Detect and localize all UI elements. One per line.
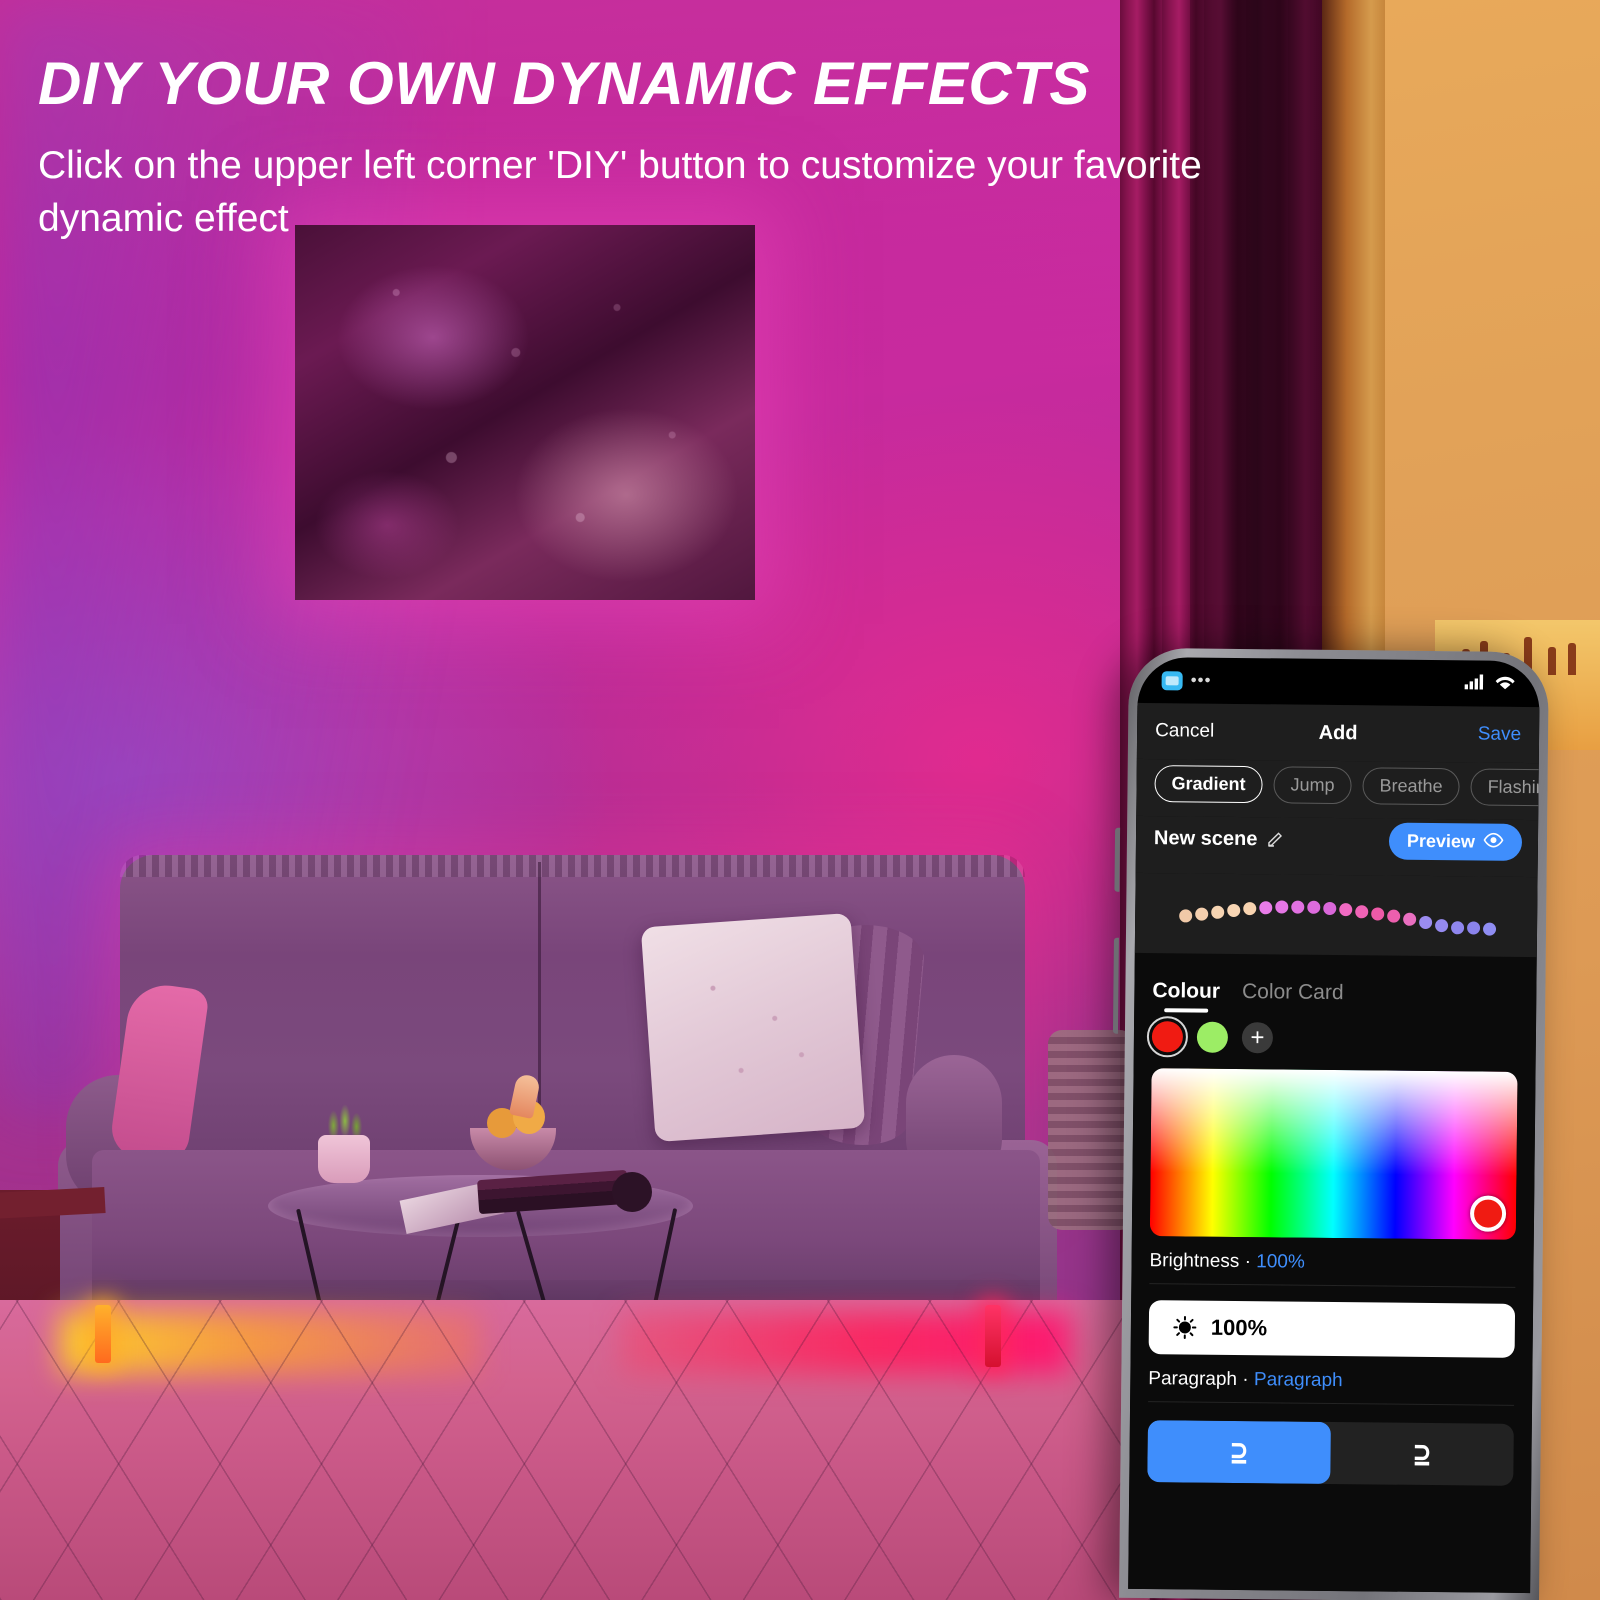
gradient-preview-strip[interactable] [1135, 873, 1538, 957]
gradient-dot[interactable] [1211, 906, 1224, 919]
paragraph-label: Paragraph [1148, 1368, 1237, 1390]
page-title: DIY YOUR OWN DYNAMIC EFFECTS [38, 52, 1158, 115]
gradient-dot[interactable] [1275, 901, 1288, 914]
gradient-dot[interactable] [1323, 902, 1336, 915]
gradient-dot[interactable] [1467, 922, 1480, 935]
phone-mockup: ••• [1119, 648, 1549, 1600]
overflow-dots-icon: ••• [1191, 677, 1212, 683]
gradient-dot[interactable] [1403, 913, 1416, 926]
gradient-dot[interactable] [1419, 916, 1432, 929]
wall-artwork [295, 225, 755, 600]
cancel-button[interactable]: Cancel [1155, 720, 1214, 743]
preview-button[interactable]: Preview [1389, 823, 1522, 861]
brightness-label: Brightness [1149, 1250, 1239, 1272]
gradient-dot[interactable] [1339, 903, 1352, 916]
gradient-dot[interactable] [1371, 907, 1384, 920]
signal-bars-icon [1465, 673, 1487, 694]
segment-glyph-2: ⊇ [1413, 1436, 1430, 1472]
gradient-dot[interactable] [1451, 921, 1464, 934]
power-button[interactable] [1113, 938, 1119, 1034]
brightness-label-row: Brightness · 100% [1131, 1236, 1533, 1288]
divider [1149, 1283, 1515, 1288]
eye-icon [1483, 832, 1504, 853]
status-bar-right [1465, 673, 1516, 695]
color-swatch-red[interactable] [1152, 1021, 1183, 1052]
sofa-leg-lit-red [985, 1305, 1001, 1367]
plant-pot [318, 1135, 370, 1183]
gradient-dot[interactable] [1227, 904, 1240, 917]
gradient-dot[interactable] [1291, 901, 1304, 914]
segment-mode-2[interactable]: ⊇ [1330, 1422, 1514, 1486]
cloud-app-icon [1162, 671, 1183, 690]
gradient-dot[interactable] [1387, 910, 1400, 923]
paragraph-value: Paragraph [1254, 1369, 1343, 1391]
led-app: Cancel Add Save Gradient Jump Breathe Fl… [1128, 703, 1539, 1593]
segment-toggle-row: ⊇ ⊇ [1147, 1420, 1514, 1486]
gradient-dot[interactable] [1435, 919, 1448, 932]
gradient-dot[interactable] [1243, 902, 1256, 915]
status-bar: ••• [1137, 657, 1539, 707]
promo-scene: DIY YOUR OWN DYNAMIC EFFECTS Click on th… [0, 0, 1600, 1600]
pencil-edit-icon[interactable] [1266, 827, 1286, 853]
sofa-leg-lit-yellow [95, 1305, 111, 1363]
color-swatch-green[interactable] [1197, 1022, 1228, 1053]
gradient-dot[interactable] [1195, 907, 1208, 920]
paragraph-separator: · [1242, 1369, 1249, 1390]
color-source-tabs: Colour Color Card [1134, 953, 1537, 1007]
segment-glyph-1: ⊇ [1230, 1434, 1247, 1470]
gradient-dot[interactable] [1355, 905, 1368, 918]
tab-breathe[interactable]: Breathe [1362, 767, 1459, 805]
wifi-icon [1495, 673, 1516, 694]
save-button[interactable]: Save [1478, 723, 1522, 745]
effect-mode-tabs: Gradient Jump Breathe Flashing [1136, 759, 1539, 820]
brightness-slider[interactable]: 100% [1149, 1300, 1516, 1358]
status-bar-left: ••• [1162, 671, 1212, 691]
color-picker-panel[interactable] [1150, 1068, 1518, 1240]
paragraph-label-row: Paragraph · Paragraph [1130, 1354, 1532, 1406]
woven-basket [1048, 1030, 1134, 1230]
brightness-sun-icon [1173, 1315, 1197, 1339]
gradient-dot[interactable] [1483, 923, 1496, 936]
gradient-dot[interactable] [1259, 901, 1272, 914]
page-subtitle: Click on the upper left corner 'DIY' but… [38, 140, 1328, 245]
divider [1148, 1401, 1514, 1406]
volume-button[interactable] [1114, 828, 1120, 892]
scene-name-label: New scene [1154, 827, 1258, 851]
color-picker-knob[interactable] [1470, 1195, 1506, 1231]
brightness-slider-value: 100% [1211, 1315, 1268, 1342]
scene-name[interactable]: New scene [1154, 826, 1287, 853]
brightness-value: 100% [1256, 1251, 1305, 1273]
rolled-item [612, 1172, 652, 1212]
tab-flashing[interactable]: Flashing [1470, 768, 1538, 806]
brightness-separator: · [1245, 1251, 1252, 1272]
gradient-dot[interactable] [1307, 901, 1320, 914]
scene-name-row: New scene Preview [1136, 816, 1539, 877]
phone-screen: ••• [1128, 657, 1540, 1593]
tab-colour[interactable]: Colour [1152, 979, 1220, 1004]
tab-color-card[interactable]: Color Card [1242, 980, 1344, 1005]
tab-gradient[interactable]: Gradient [1154, 765, 1262, 803]
add-color-button[interactable]: + [1242, 1022, 1273, 1053]
segment-mode-1[interactable]: ⊇ [1147, 1420, 1331, 1484]
preview-button-label: Preview [1407, 831, 1475, 853]
sofa-white-pillow [641, 913, 865, 1142]
app-topbar: Cancel Add Save [1137, 703, 1540, 763]
tab-jump[interactable]: Jump [1273, 766, 1351, 804]
gradient-dot[interactable] [1179, 909, 1192, 922]
floor-tile-pattern [0, 1300, 1150, 1600]
